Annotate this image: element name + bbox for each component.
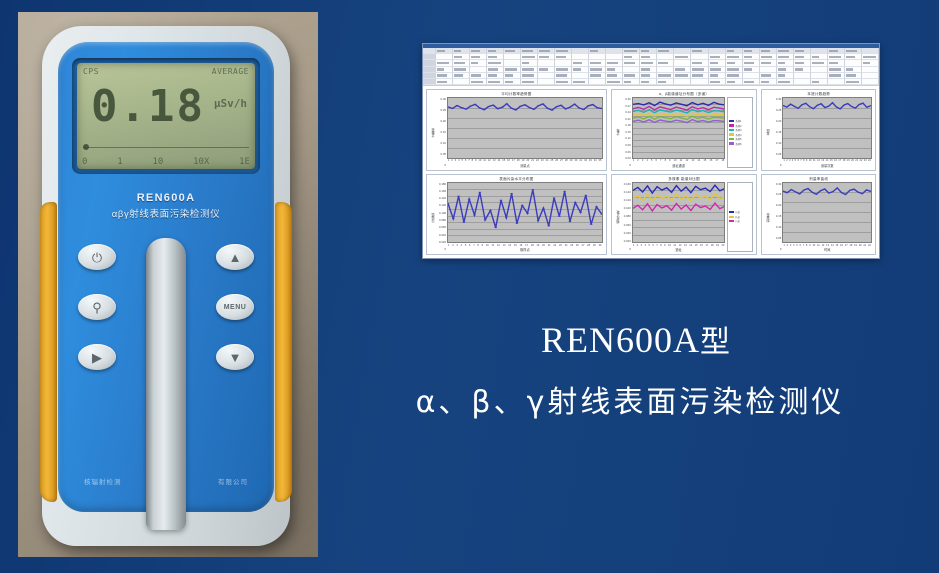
product-title: REN600A型 — [330, 318, 930, 365]
chart-line-series — [633, 120, 725, 123]
chart-data-point — [719, 208, 721, 209]
chart-data-point — [691, 106, 693, 107]
chart-data-point — [648, 113, 650, 114]
chart-data-point — [578, 107, 581, 108]
legend-swatch — [729, 129, 734, 131]
chart-data-point — [680, 114, 682, 115]
chart-data-point — [664, 108, 666, 109]
legend-label: γ 道 — [735, 219, 739, 223]
chart-data-point — [702, 110, 704, 111]
chart-data-point — [714, 192, 716, 193]
chart-y-tick: 0.060 — [439, 226, 446, 229]
chart-card: 平均计数率趋势图计数率0.300.250.200.150.100.0501234… — [426, 89, 607, 171]
cell-text-glyph — [846, 50, 858, 52]
chart-data-point — [643, 121, 645, 122]
chart-plot-area — [632, 182, 726, 244]
chart-data-point — [656, 186, 658, 187]
slide-canvas: CPS AVERAGE 0.18 µSv/h 011010X1E REN600A… — [0, 0, 939, 573]
chart-data-point — [590, 223, 593, 224]
chart-data-point — [642, 199, 644, 200]
chart-y-tick: 0.100 — [439, 212, 446, 215]
chart-plot-area — [632, 97, 726, 159]
chart-data-point — [713, 117, 715, 118]
cell-text-glyph — [573, 81, 585, 83]
cell-text-glyph — [590, 62, 601, 64]
cell-text-glyph — [846, 68, 853, 70]
table-cell — [794, 79, 811, 85]
chart-x-axis-label: 测量次数 — [782, 164, 872, 168]
chart-data-point — [675, 202, 677, 203]
cell-text-glyph — [624, 74, 634, 76]
search-button[interactable]: ⚲ — [78, 294, 116, 320]
chart-data-point — [858, 191, 860, 192]
table-cell — [606, 79, 623, 85]
chart-data-point — [713, 102, 715, 103]
chart-data-point — [656, 194, 658, 195]
chart-data-point — [474, 104, 477, 105]
chart-y-tick: 0.21 — [625, 118, 630, 121]
chart-data-point — [596, 107, 599, 108]
chart-data-point — [637, 195, 639, 196]
cell-text-glyph — [658, 74, 671, 76]
chart-data-point — [569, 107, 572, 108]
cell-text-glyph — [607, 74, 616, 76]
chart-data-point — [691, 119, 693, 120]
cell-text-glyph — [812, 56, 819, 58]
chart-data-point — [685, 186, 687, 187]
menu-label: MENU — [224, 304, 247, 311]
cell-text-glyph — [829, 50, 839, 52]
chart-data-point — [463, 221, 466, 222]
cell-text-glyph — [658, 62, 668, 64]
chart-data-point — [847, 103, 849, 104]
chart-data-point — [648, 109, 650, 110]
cell-text-glyph — [812, 81, 820, 83]
cell-text-glyph — [454, 56, 462, 58]
chart-data-point — [713, 114, 715, 115]
cell-text-glyph — [829, 68, 841, 70]
chart-data-point — [675, 120, 677, 121]
chart-data-point — [659, 106, 661, 107]
chart-x-axis-label: 时间 — [782, 248, 872, 252]
chart-data-point — [803, 189, 805, 190]
chart-y-tick: 0 — [780, 248, 782, 251]
chart-y-tick: 0 — [444, 248, 446, 251]
chart-data-point — [653, 105, 655, 106]
product-title-model: REN600A — [541, 320, 700, 360]
chart-data-point — [487, 106, 490, 107]
cell-text-glyph — [795, 56, 804, 58]
chart-plot-wrap: 123456789101112131415161718192021222324测… — [782, 97, 872, 168]
chart-data-point — [798, 108, 800, 109]
product-photo: CPS AVERAGE 0.18 µSv/h 011010X1E REN600A… — [18, 12, 318, 557]
chart-data-point — [659, 109, 661, 110]
chart-data-point — [686, 112, 688, 113]
chart-y-axis-label: 计数率 — [430, 97, 436, 168]
chart-series-layer — [783, 98, 871, 158]
chart-data-point — [510, 193, 513, 194]
chart-data-point — [713, 120, 715, 121]
chart-data-point — [697, 118, 699, 119]
chart-data-point — [653, 115, 655, 116]
cell-text-glyph — [590, 74, 601, 76]
chart-data-point — [496, 108, 499, 109]
chart-data-point — [837, 187, 839, 188]
chart-y-ticks: 0.1800.1600.1400.1200.1000.0800.0600.040… — [436, 182, 447, 253]
chart-data-point — [680, 190, 682, 191]
chart-data-point — [670, 112, 672, 113]
cell-text-glyph — [692, 62, 702, 64]
chart-data-point — [849, 189, 851, 190]
chart-data-point — [699, 189, 701, 190]
chart-y-tick: 0.30 — [776, 183, 781, 186]
chart-data-point — [478, 191, 481, 192]
chart-data-point — [795, 191, 797, 192]
cell-text-glyph — [573, 62, 582, 64]
chart-y-tick: 0.24 — [625, 111, 630, 114]
chart-y-tick: 0.060 — [624, 224, 631, 227]
table-cell — [555, 79, 572, 85]
chart-data-point — [542, 207, 545, 208]
chart-data-point — [648, 116, 650, 117]
chart-data-point — [661, 189, 663, 190]
chart-data-point — [714, 202, 716, 203]
chart-data-point — [707, 122, 709, 123]
chart-data-point — [653, 122, 655, 123]
chart-data-point — [637, 110, 639, 111]
chart-data-point — [707, 118, 709, 119]
chart-data-point — [510, 108, 513, 109]
table-cell — [470, 79, 487, 85]
cell-text-glyph — [556, 81, 568, 83]
cell-text-glyph — [710, 62, 718, 64]
cell-text-glyph — [522, 62, 529, 64]
cell-text-glyph — [505, 74, 513, 76]
cell-text-glyph — [778, 50, 789, 52]
chart-data-point — [691, 102, 693, 103]
legend-label: 系列3 — [735, 128, 741, 132]
table-cell — [709, 79, 726, 85]
chart-data-point — [469, 106, 472, 107]
chart-legend-item: 系列4 — [729, 133, 751, 137]
legend-swatch — [729, 211, 734, 213]
chart-data-point — [816, 193, 818, 194]
chart-plot-wrap: 1234567891011121314151617181920道址 — [632, 182, 726, 253]
chart-data-point — [460, 107, 463, 108]
chart-data-point — [709, 191, 711, 192]
chart-data-point — [686, 116, 688, 117]
chart-plot-area — [782, 182, 872, 244]
chart-data-point — [680, 117, 682, 118]
legend-swatch — [729, 220, 734, 222]
chart-y-tick: 0.080 — [624, 215, 631, 218]
cell-text-glyph — [778, 74, 785, 76]
cell-text-glyph — [658, 50, 669, 52]
chart-data-point — [457, 195, 460, 196]
table-cell — [487, 79, 504, 85]
chart-data-point — [821, 103, 823, 104]
cell-text-glyph — [761, 62, 772, 64]
chart-plot-wrap: 1234567891011121314151617181920212223242… — [447, 97, 603, 168]
chart-data-point — [704, 205, 706, 206]
cell-text-glyph — [624, 50, 637, 52]
keypad: ⏻ ⚲ ▶ ▲ MENU ▼ — [58, 242, 274, 392]
cell-text-glyph — [539, 68, 548, 70]
cell-text-glyph — [488, 62, 501, 64]
legend-label: β 道 — [735, 215, 739, 219]
cell-text-glyph — [829, 56, 841, 58]
chart-data-point — [600, 213, 601, 214]
cell-text-glyph — [590, 68, 601, 70]
chart-data-point — [824, 107, 826, 108]
chart-data-point — [671, 199, 673, 200]
chart-data-point — [713, 107, 715, 108]
chart-data-point — [637, 204, 639, 205]
chart-y-ticks: 0.300.250.200.150.100.050 — [436, 97, 447, 168]
cell-text-glyph — [641, 74, 649, 76]
chart-data-point — [646, 185, 648, 186]
chart-data-point — [680, 121, 682, 122]
chart-y-axis-label: 剂量率 — [765, 182, 771, 253]
up-button[interactable]: ▲ — [216, 244, 254, 270]
chart-line-series — [783, 187, 871, 194]
chart-body: 计数率0.300.250.200.150.100.050123456789101… — [430, 97, 603, 168]
chart-data-point — [516, 222, 519, 223]
chart-data-point — [648, 119, 650, 120]
chart-data-point — [718, 110, 720, 111]
chart-data-point — [675, 110, 677, 111]
down-button[interactable]: ▼ — [216, 344, 254, 370]
chart-data-point — [686, 122, 688, 123]
chart-y-tick: 0.120 — [439, 204, 446, 207]
chart-y-tick: 0 — [629, 248, 631, 251]
chart-data-point — [790, 104, 792, 105]
chart-gridline — [448, 242, 602, 243]
chart-data-point — [651, 210, 653, 211]
chart-data-point — [697, 115, 699, 116]
spreadsheet-data-table — [423, 48, 879, 86]
chart-data-point — [709, 199, 711, 200]
lcd-unit-label: µSv/h — [214, 97, 247, 110]
chart-data-point — [697, 104, 699, 105]
chart-data-point — [799, 193, 801, 194]
cell-text-glyph — [437, 81, 447, 83]
lcd-screen: CPS AVERAGE 0.18 µSv/h 011010X1E — [77, 63, 255, 169]
legend-swatch — [729, 142, 734, 144]
cell-text-glyph — [710, 56, 720, 58]
chart-data-point — [840, 108, 842, 109]
cell-text-glyph — [522, 56, 534, 58]
chart-data-point — [844, 105, 846, 106]
cell-text-glyph — [488, 81, 499, 83]
chart-data-point — [528, 107, 531, 108]
chart-row-top: 平均计数率趋势图计数率0.300.250.200.150.100.0501234… — [426, 89, 876, 171]
cell-text-glyph — [437, 62, 449, 64]
chart-data-point — [521, 204, 524, 205]
chart-y-tick: 0.09 — [625, 144, 630, 147]
chart-data-point — [691, 112, 693, 113]
cell-text-glyph — [795, 50, 804, 52]
table-cell — [589, 79, 606, 85]
chart-series-layer — [448, 183, 602, 243]
chart-y-tick: 0.27 — [625, 105, 630, 108]
chart-line-series — [633, 113, 725, 116]
chart-data-point — [643, 112, 645, 113]
cell-text-glyph — [675, 74, 687, 76]
legend-label: 系列4 — [735, 133, 741, 137]
cell-text-glyph — [573, 68, 581, 70]
chart-series-layer — [448, 98, 602, 158]
chart-data-point — [661, 197, 663, 198]
power-button[interactable]: ⏻ — [78, 244, 116, 270]
chart-data-point — [709, 208, 711, 209]
chart-data-point — [690, 200, 692, 201]
footer-right-text: 有限公司 — [218, 476, 248, 486]
chart-x-axis-label: 测量点 — [447, 164, 603, 168]
chart-series-layer — [783, 183, 871, 243]
table-cell — [845, 79, 862, 85]
lcd-scale: 011010X1E — [82, 157, 250, 167]
chart-data-point — [542, 103, 545, 104]
chart-y-tick: 0.140 — [439, 197, 446, 200]
chart-data-point — [656, 204, 658, 205]
cell-text-glyph — [744, 81, 754, 83]
cell-text-glyph — [692, 50, 701, 52]
chart-data-point — [653, 119, 655, 120]
chart-card: 表面污染水平分布图污染值0.1800.1600.1400.1200.1000.0… — [426, 174, 607, 256]
chart-data-point — [670, 121, 672, 122]
chart-data-point — [659, 102, 661, 103]
chevron-down-icon: ▼ — [229, 351, 242, 364]
chart-data-point — [505, 103, 508, 104]
cell-text-glyph — [539, 56, 549, 58]
cell-text-glyph — [641, 68, 649, 70]
chart-body: 污染值0.1800.1600.1400.1200.1000.0800.0600.… — [430, 182, 603, 253]
chart-data-point — [718, 114, 720, 115]
chart-y-ticks: 0.300.270.240.210.180.150.120.090.060.03… — [621, 97, 632, 168]
chart-data-point — [859, 104, 861, 105]
cell-text-glyph — [488, 50, 496, 52]
chart-data-point — [533, 109, 536, 110]
cell-text-glyph — [846, 74, 857, 76]
chart-data-point — [551, 110, 554, 111]
chart-data-point — [719, 190, 721, 191]
product-subtitle: α、β、γ射线表面污染检测仪 — [330, 375, 930, 431]
menu-button[interactable]: MENU — [216, 294, 254, 320]
chart-y-tick: 0.040 — [439, 234, 446, 237]
chart-data-point — [704, 195, 706, 196]
table-cell — [674, 79, 691, 85]
cell-text-glyph — [829, 74, 841, 76]
chart-data-point — [642, 191, 644, 192]
chart-line-series — [633, 203, 725, 211]
chart-legend-item: 系列2 — [729, 124, 751, 128]
chart-data-point — [501, 107, 504, 108]
chart-legend-item: 系列5 — [729, 137, 751, 141]
legend-label: 系列5 — [735, 137, 741, 141]
chart-data-point — [489, 209, 492, 210]
chart-y-tick: 0.25 — [776, 109, 781, 112]
chart-data-point — [648, 102, 650, 103]
chart-data-point — [637, 107, 639, 108]
footer-left-text: 核辐射检测 — [84, 476, 122, 486]
chart-data-point — [579, 211, 582, 212]
table-cell — [572, 79, 589, 85]
title-block: REN600A型 α、β、γ射线表面污染检测仪 — [330, 318, 930, 431]
legend-label: 系列6 — [735, 142, 741, 146]
cell-text-glyph — [437, 68, 444, 70]
chart-data-point — [786, 107, 788, 108]
chart-data-point — [451, 108, 454, 109]
cell-text-glyph — [658, 81, 666, 83]
chart-data-point — [670, 109, 672, 110]
table-cell — [640, 79, 657, 85]
chart-data-point — [643, 104, 645, 105]
chart-y-tick: 0.120 — [624, 199, 631, 202]
cell-text-glyph — [624, 81, 631, 83]
device-footer-text: 核辐射检测 有限公司 — [58, 476, 274, 486]
row-header-cell — [423, 79, 436, 85]
chart-data-point — [558, 215, 561, 216]
chart-data-point — [666, 195, 668, 196]
chart-data-point — [546, 108, 549, 109]
table-cell — [623, 79, 640, 85]
chart-data-point — [492, 105, 495, 106]
chart-data-point — [465, 109, 468, 110]
legend-label: α 道 — [735, 210, 739, 214]
chart-data-point — [468, 198, 471, 199]
cell-text-glyph — [710, 74, 719, 76]
chart-data-point — [718, 117, 720, 118]
chart-data-point — [456, 105, 459, 106]
chart-data-point — [526, 212, 529, 213]
cell-text-glyph — [454, 62, 465, 64]
chart-data-point — [686, 110, 688, 111]
cell-text-glyph — [607, 81, 620, 83]
chart-y-tick: 0.020 — [624, 240, 631, 243]
play-button[interactable]: ▶ — [78, 344, 116, 370]
cell-text-glyph — [744, 68, 752, 70]
table-cell — [777, 79, 794, 85]
chart-data-point — [671, 191, 673, 192]
chart-data-point — [828, 192, 830, 193]
cell-text-glyph — [692, 68, 704, 70]
chart-data-point — [531, 189, 534, 190]
cell-text-glyph — [590, 50, 597, 52]
chart-data-point — [855, 108, 857, 109]
table-cell — [504, 79, 521, 85]
chart-data-point — [695, 193, 697, 194]
chart-legend: 系列1系列2系列3系列4系列5系列6 — [727, 97, 753, 168]
chart-y-tick: 0.18 — [625, 124, 630, 127]
chart-y-tick: 0.140 — [624, 191, 631, 194]
legend-swatch — [729, 124, 734, 126]
cell-text-glyph — [505, 81, 513, 83]
chart-legend-item: 系列3 — [729, 128, 751, 132]
chart-data-point — [809, 106, 811, 107]
chart-data-point — [560, 105, 563, 106]
cell-text-glyph — [744, 56, 752, 58]
chart-data-point — [519, 106, 522, 107]
chart-data-point — [714, 184, 716, 185]
chart-data-point — [553, 197, 556, 198]
chart-gridline — [783, 242, 871, 243]
cell-text-glyph — [556, 56, 566, 58]
lcd-scale-tick: 0 — [82, 157, 87, 167]
chart-data-point — [643, 109, 645, 110]
cell-text-glyph — [641, 56, 649, 58]
chart-data-point — [582, 109, 585, 110]
